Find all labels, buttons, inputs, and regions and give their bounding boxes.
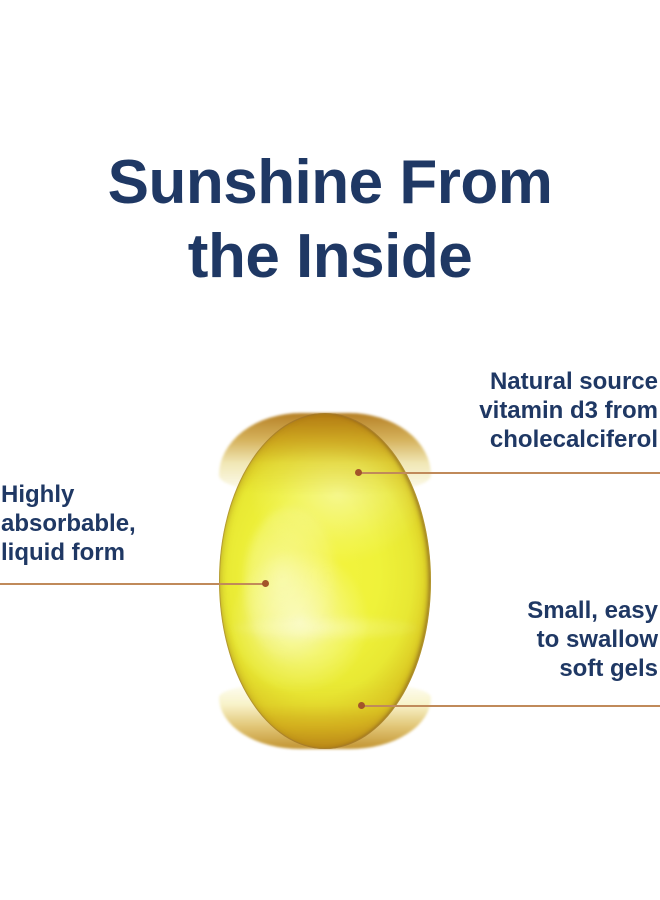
page-title: Sunshine From the Inside bbox=[0, 146, 660, 294]
leader-line-highly-absorbable bbox=[0, 583, 266, 585]
capsule-body bbox=[219, 413, 431, 749]
capsule-outline bbox=[219, 413, 431, 749]
leader-dot-small-easy-swallow bbox=[358, 702, 365, 709]
callout-natural-source: Natural source vitamin d3 from cholecalc… bbox=[479, 367, 658, 454]
leader-dot-highly-absorbable bbox=[262, 580, 269, 587]
softgel-capsule-image bbox=[219, 413, 431, 749]
callout-small-easy-swallow: Small, easy to swallow soft gels bbox=[527, 596, 658, 683]
callout-highly-absorbable: Highly absorbable, liquid form bbox=[1, 480, 136, 567]
leader-line-small-easy-swallow bbox=[361, 705, 660, 707]
leader-line-natural-source bbox=[358, 472, 660, 474]
leader-dot-natural-source bbox=[355, 469, 362, 476]
product-infographic: Sunshine From the Inside Natural source … bbox=[0, 0, 660, 900]
